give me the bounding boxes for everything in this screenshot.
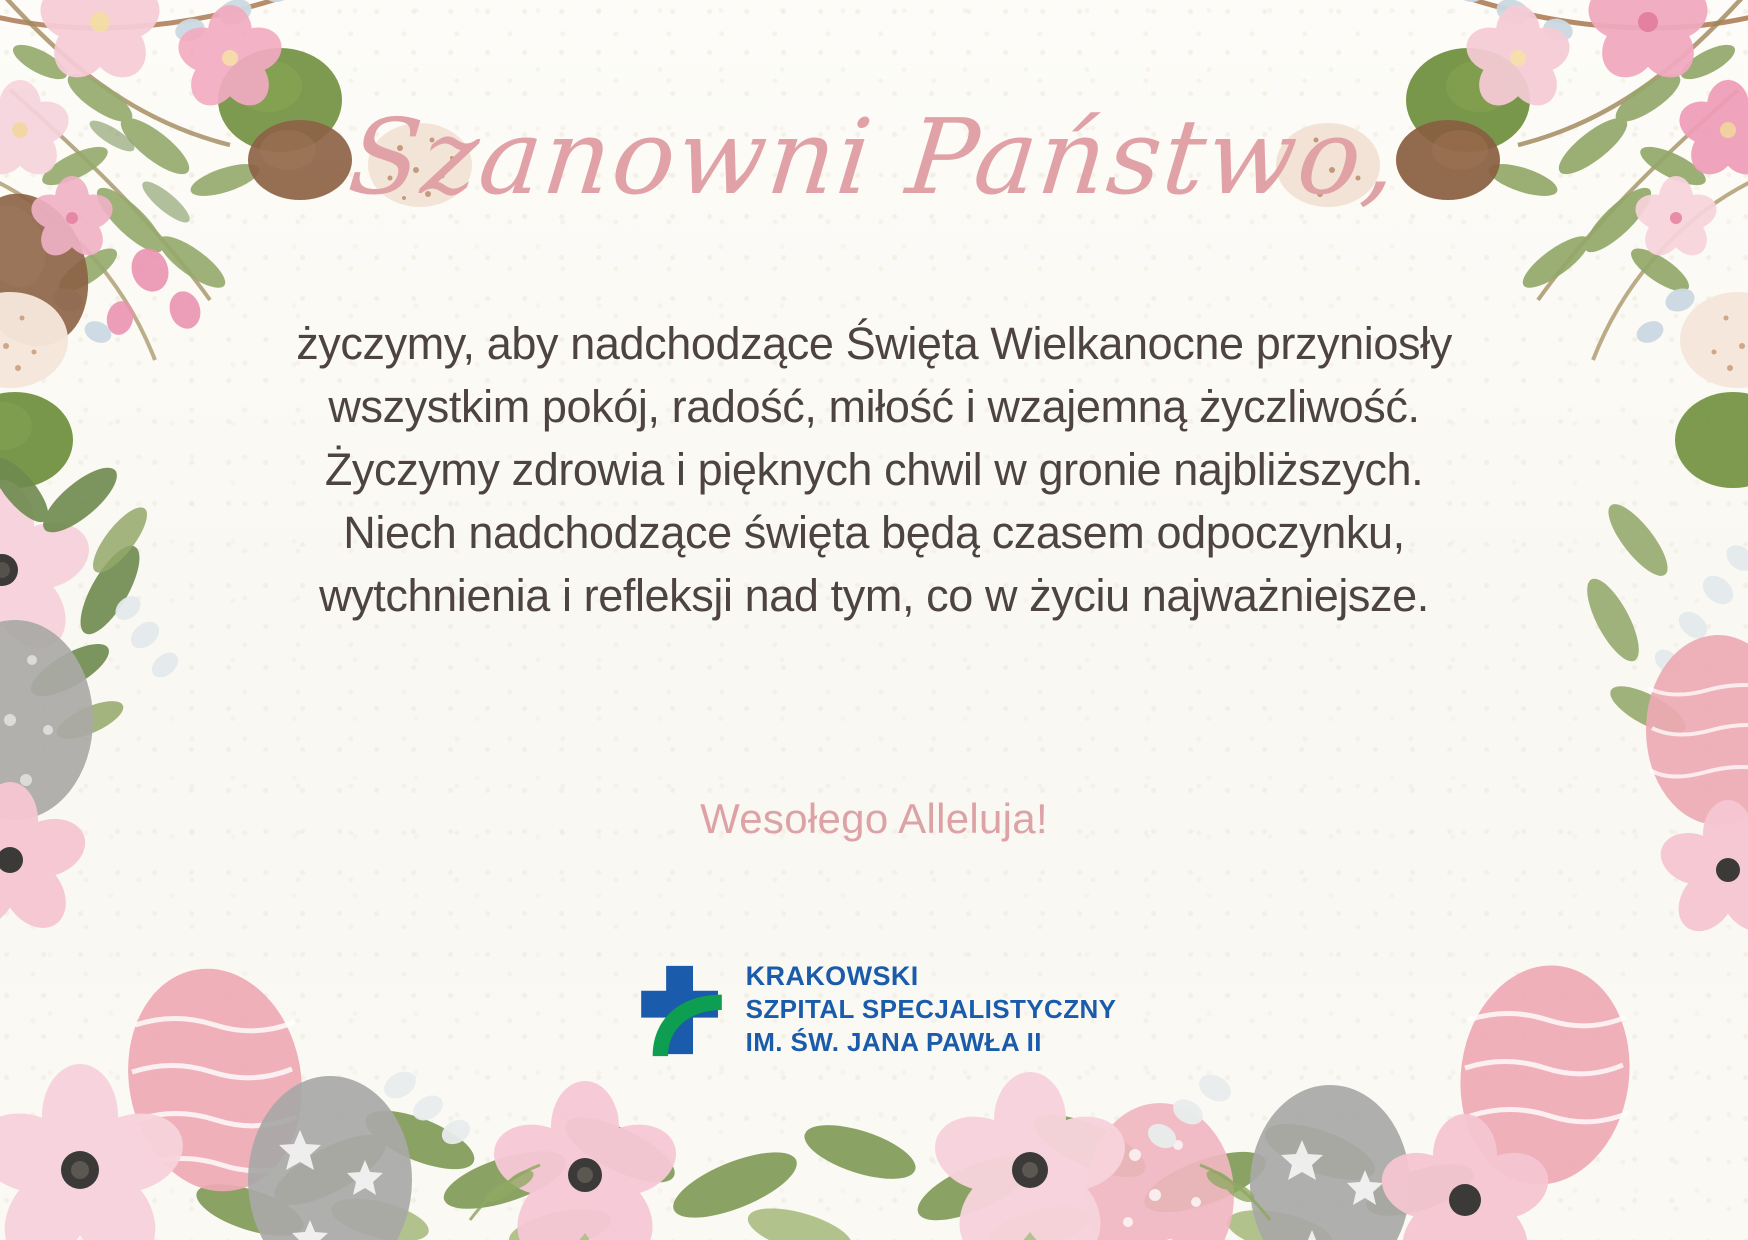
body-line-2: wszystkim pokój, radość, miłość i wzajem… <box>0 375 1748 438</box>
body-line-1: życzymy, aby nadchodzące Święta Wielkano… <box>0 312 1748 375</box>
hospital-cross-icon <box>632 962 728 1058</box>
hospital-logo: KRAKOWSKI SZPITAL SPECJALISTYCZNY IM. ŚW… <box>632 960 1117 1059</box>
logo-line-3: IM. ŚW. JANA PAWŁA II <box>746 1026 1117 1059</box>
body-line-5: wytchnienia i refleksji nad tym, co w ży… <box>0 564 1748 627</box>
closing-wish: Wesołego Alleluja! <box>0 795 1748 843</box>
greeting-heading: Szanowni Państwo, <box>0 96 1748 218</box>
logo-line-1: KRAKOWSKI <box>746 960 1117 993</box>
easter-greeting-card: Szanowni Państwo, życzymy, aby nadchodzą… <box>0 0 1748 1240</box>
logo-line-2: SZPITAL SPECJALISTYCZNY <box>746 993 1117 1026</box>
greeting-body: życzymy, aby nadchodzące Święta Wielkano… <box>0 312 1748 627</box>
hospital-logo-text: KRAKOWSKI SZPITAL SPECJALISTYCZNY IM. ŚW… <box>746 960 1117 1059</box>
body-line-4: Niech nadchodzące święta będą czasem odp… <box>0 501 1748 564</box>
body-line-3: Życzymy zdrowia i pięknych chwil w groni… <box>0 438 1748 501</box>
